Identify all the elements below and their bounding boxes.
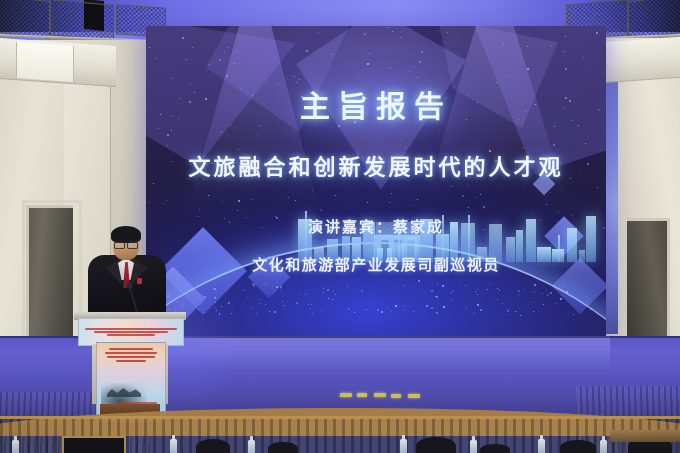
- slide-heading: 主旨报告: [146, 82, 606, 126]
- front-wood-barrier: [0, 416, 680, 453]
- barrier-framed-panel: [62, 436, 126, 453]
- left-wall-cap-inset: [16, 42, 74, 82]
- conference-stage-photo: 主旨报告 文旅融合和创新发展时代的人才观 演讲嘉宾：蔡家成 文化和旅游部产业发展…: [0, 0, 680, 453]
- speaker-lapel-badge: [137, 278, 142, 284]
- podium-and-speaker: [74, 228, 186, 416]
- slide-speaker-title: 文化和旅游部产业发展司副巡视员: [146, 254, 606, 275]
- audience-desk-right: [610, 430, 680, 442]
- ceiling-speaker-left-2: [50, 0, 114, 41]
- stage-floor-sheen: [150, 336, 610, 370]
- poster-title-lines: [103, 348, 159, 362]
- slide-speaker-name: 演讲嘉宾：蔡家成: [146, 216, 606, 237]
- led-presentation-screen: 主旨报告 文旅融合和创新发展时代的人才观 演讲嘉宾：蔡家成 文化和旅游部产业发展…: [146, 26, 606, 336]
- slide-subtitle: 文旅融合和创新发展时代的人才观: [146, 150, 606, 182]
- eyeglasses-icon: [114, 240, 138, 247]
